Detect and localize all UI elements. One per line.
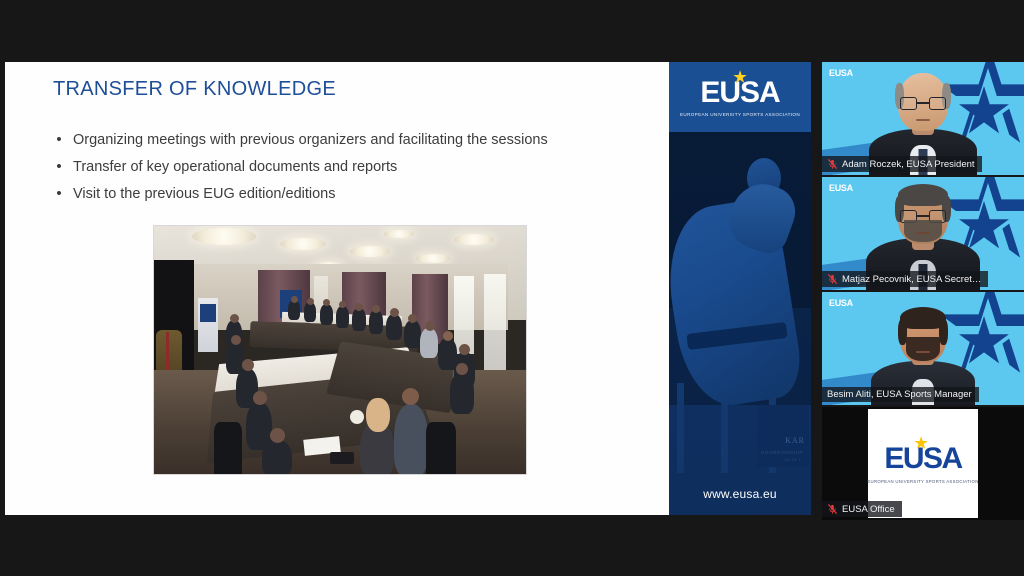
participant-name-bar: Matjaz Pecovnik, EUSA Secret…: [822, 271, 988, 287]
participant-name: EUSA Office: [842, 504, 895, 515]
participant-tile-active-speaker[interactable]: EUSA Besim Aliti, EUSA Sports Manager: [822, 292, 1024, 405]
video-meeting-window: TRANSFER OF KNOWLEDGE • Organizing meeti…: [0, 0, 1024, 576]
slide-bullet-list: • Organizing meetings with previous orga…: [45, 130, 655, 211]
slide-bullet-item: • Organizing meetings with previous orga…: [45, 130, 655, 150]
star-icon: ★: [914, 437, 926, 451]
slide-bullet-item: • Visit to the previous EUG edition/edit…: [45, 184, 655, 204]
eusa-logo-header: EUSA ★ EUROPEAN UNIVERSITY SPORTS ASSOCI…: [669, 62, 811, 132]
eusa-logo-tagline: EUROPEAN UNIVERSITY SPORTS ASSOCIATION: [680, 112, 800, 117]
slide-bullet-item: • Transfer of key operational documents …: [45, 157, 655, 177]
bullet-text: Transfer of key operational documents an…: [73, 157, 397, 177]
slide-photo: [153, 225, 527, 475]
eusa-watermark: EUSA: [829, 183, 853, 193]
slide-title: TRANSFER OF KNOWLEDGE: [53, 78, 336, 101]
participant-filmstrip[interactable]: EUSA: [822, 62, 1024, 522]
microphone-muted-icon: [827, 503, 838, 515]
participant-name: Adam Roczek, EUSA President: [842, 159, 975, 170]
participant-name-bar: Besim Aliti, EUSA Sports Manager: [822, 387, 979, 402]
participant-name: Besim Aliti, EUSA Sports Manager: [827, 389, 972, 400]
eusa-watermark: EUSA: [829, 68, 853, 78]
microphone-muted-icon: [827, 158, 838, 170]
eusa-karate-photo: KAR CHAMPIONSHIP 19-24 7: [669, 132, 811, 515]
eusa-watermark: EUSA: [829, 298, 853, 308]
eusa-website-url: www.eusa.eu: [669, 487, 811, 501]
participant-tile[interactable]: EUSA: [822, 177, 1024, 290]
participant-name: Matjaz Pecovnik, EUSA Secret…: [842, 274, 981, 285]
bullet-text: Visit to the previous EUG edition/editio…: [73, 184, 336, 204]
microphone-muted-icon: [827, 273, 838, 285]
shared-screen-stage[interactable]: TRANSFER OF KNOWLEDGE • Organizing meeti…: [5, 62, 811, 515]
participant-tile[interactable]: EUSA ★ EUROPEAN UNIVERSITY SPORTS ASSOCI…: [822, 407, 1024, 520]
eyeglasses-icon: [900, 97, 946, 110]
bullet-marker-icon: •: [45, 184, 73, 204]
eusa-logo-text: EUSA ★: [700, 78, 779, 108]
eusa-logo-tagline: EUROPEAN UNIVERSITY SPORTS ASSOCIATION: [867, 479, 978, 484]
eusa-branding-panel: EUSA ★ EUROPEAN UNIVERSITY SPORTS ASSOCI…: [669, 62, 811, 515]
participant-tile[interactable]: EUSA: [822, 62, 1024, 175]
star-icon: ★: [733, 71, 747, 85]
eusa-logo-text: EUSA ★: [884, 444, 961, 474]
bullet-marker-icon: •: [45, 130, 73, 150]
presentation-slide[interactable]: TRANSFER OF KNOWLEDGE • Organizing meeti…: [5, 62, 669, 515]
bullet-marker-icon: •: [45, 157, 73, 177]
participant-name-bar: Adam Roczek, EUSA President: [822, 156, 982, 172]
participant-name-bar: EUSA Office: [822, 501, 902, 517]
bullet-text: Organizing meetings with previous organi…: [73, 130, 548, 150]
